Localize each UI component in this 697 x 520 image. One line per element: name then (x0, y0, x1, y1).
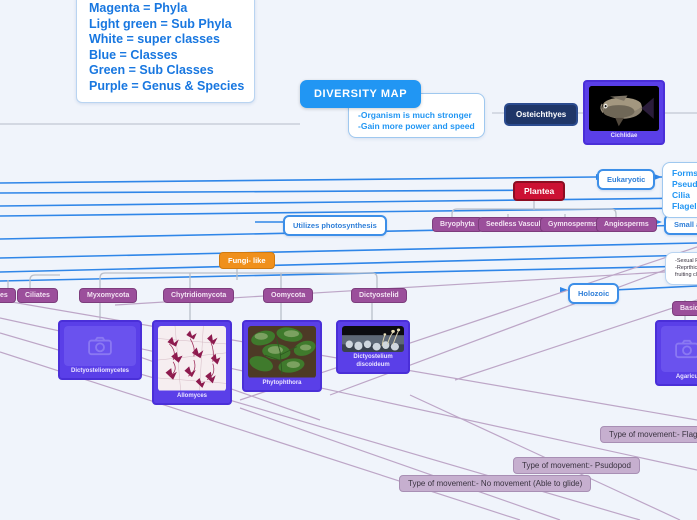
species-card-agaricus[interactable]: Agaricu (655, 320, 697, 386)
sexual-note-line: fruiting cla (675, 272, 697, 279)
movement-note-flagella[interactable]: Type of movement:- Flagella (600, 426, 697, 443)
movement-forms-line: Cilia (672, 190, 697, 201)
legend-line: Green = Sub Classes (89, 63, 244, 79)
node-utilizes-photosynthesis[interactable]: Utilizes photosynthesis (283, 215, 387, 236)
species-card-caption: Cichlidae (610, 131, 639, 142)
species-card-allomyces[interactable]: Allomyces (152, 320, 232, 405)
node-fungi-like[interactable]: Fungi- like (219, 252, 275, 269)
tissue-note-line: -Organism is much stronger (358, 110, 475, 121)
microscopy-hyphae-image (158, 326, 226, 391)
node-holozoic[interactable]: Holozoic (568, 283, 619, 304)
node-ciliates[interactable]: Ciliates (17, 288, 58, 303)
sexual-note-line: -Sexual Re (675, 258, 697, 265)
legend-line: Magenta = Phyla (89, 1, 244, 17)
node-basidio[interactable]: Basidio (672, 301, 697, 316)
species-card-caption: Agaricu (675, 372, 697, 383)
node-plantea[interactable]: Plantea (513, 181, 565, 201)
species-card-dictyostelium-discoideum[interactable]: Dictyostelium discoideum (336, 320, 410, 374)
image-placeholder (64, 326, 136, 366)
legend-line: Purple = Genus & Species (89, 79, 244, 95)
mind-map-canvas[interactable]: Magenta = Phyla Light green = Sub Phyla … (0, 0, 697, 520)
legend-line: Blue = Classes (89, 48, 244, 64)
species-card-cichlidae[interactable]: Cichlidae (583, 80, 665, 145)
blighted-leaves-image (248, 326, 316, 378)
node-eukaryotic[interactable]: Eukaryotic (597, 169, 655, 190)
species-card-caption: Allomyces (176, 391, 208, 402)
species-card-phytophthora[interactable]: Phytophthora (242, 320, 322, 392)
movement-forms-note: Forms of mo Pseudopod Cilia Flagella (662, 162, 697, 218)
tissue-note-line: -Gain more power and speed (358, 121, 475, 132)
node-dictyostelid[interactable]: Dictyostelid (351, 288, 407, 303)
node-oomycota[interactable]: Oomycota (263, 288, 313, 303)
node-myxomycota[interactable]: Myxomycota (79, 288, 137, 303)
fish-photo (589, 86, 659, 131)
camera-icon (661, 326, 697, 372)
movement-note-psudopod[interactable]: Type of movement:- Psudopod (513, 457, 640, 474)
movement-forms-line: Flagella (672, 201, 697, 212)
sexual-reproduction-note: -Sexual Re -Reprthico fruiting cla (665, 252, 697, 285)
node-osteichthyes[interactable]: Osteichthyes (504, 103, 578, 126)
node-chytridiomycota[interactable]: Chytridiomycota (163, 288, 234, 303)
diversity-map-title[interactable]: DIVERSITY MAP (300, 80, 421, 108)
camera-icon (64, 326, 136, 366)
sexual-note-line: -Reprthico (675, 265, 697, 272)
movement-forms-line: Pseudopod (672, 179, 697, 190)
species-card-caption: Dictyosteliomycetes (70, 366, 130, 377)
node-angiosperms[interactable]: Angiosperms (596, 217, 657, 232)
movement-note-no-movement[interactable]: Type of movement:- No movement (Able to … (399, 475, 591, 492)
movement-forms-line: Forms of mo (672, 168, 697, 179)
species-card-dictyosteliomycetes[interactable]: Dictyosteliomycetes (58, 320, 142, 380)
node-bryophyta[interactable]: Bryophyta (432, 217, 483, 232)
image-placeholder (661, 326, 697, 372)
species-card-caption: Dictyostelium discoideum (352, 352, 393, 370)
node-protist-es[interactable]: es (0, 288, 16, 303)
species-card-caption: Phytophthora (262, 378, 303, 389)
legend-line: Light green = Sub Phyla (89, 17, 244, 33)
legend-box: Magenta = Phyla Light green = Sub Phyla … (76, 0, 255, 103)
slime-mold-fruiting-image (342, 326, 404, 352)
legend-line: White = super classes (89, 32, 244, 48)
